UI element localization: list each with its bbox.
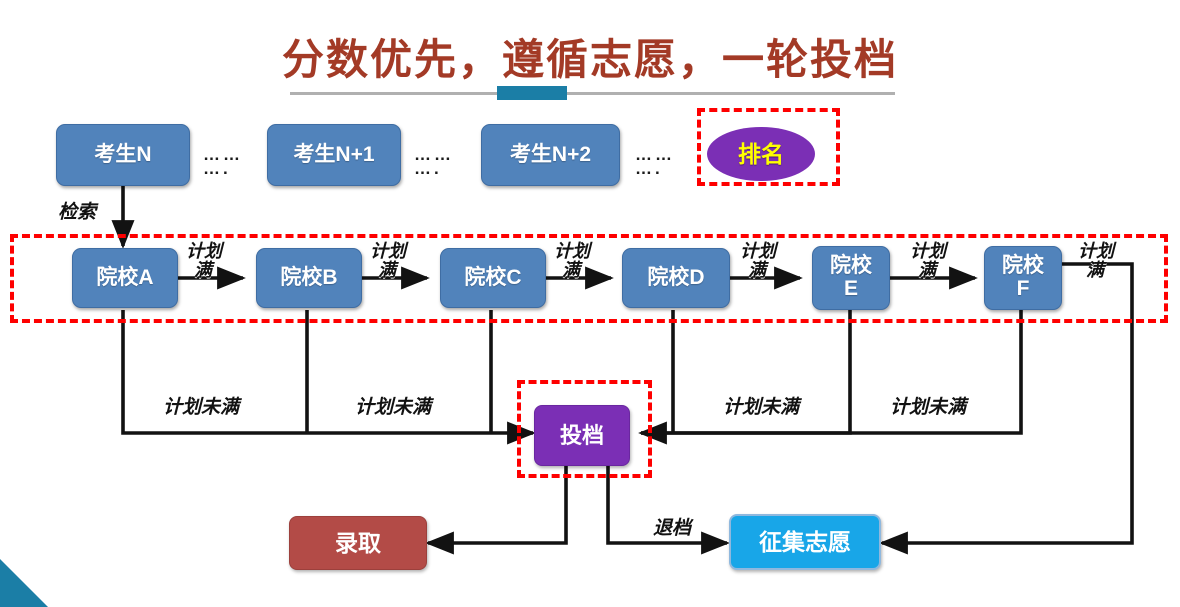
edge-label-plan-not-full-1: 计划未满 — [163, 392, 239, 419]
college-box-a[interactable]: 院校A — [72, 248, 178, 308]
plan-full-line2: 满 — [370, 261, 404, 280]
plan-full-line1: 计划 — [1078, 242, 1112, 261]
corner-triangle-decoration — [0, 559, 48, 607]
candidate-box-2[interactable]: 考生N+1 — [267, 124, 401, 186]
edge-label-plan-full-d-e: 计划 满 — [740, 242, 774, 280]
plan-full-line1: 计划 — [370, 242, 404, 261]
ellipsis-bottom: …. — [635, 162, 675, 176]
admitted-box[interactable]: 录取 — [289, 516, 427, 570]
plan-full-line2: 满 — [186, 261, 220, 280]
candidate-label: 考生N+2 — [510, 144, 591, 167]
edge-label-plan-full-f-out: 计划 满 — [1078, 242, 1112, 280]
second-round-box[interactable]: 征集志愿 — [729, 514, 881, 570]
plan-full-line1: 计划 — [554, 242, 588, 261]
edge-label-plan-full-a-b: 计划 满 — [186, 242, 220, 280]
ellipsis-group-3: …… …. — [635, 148, 675, 176]
edge-label-plan-full-e-f: 计划 满 — [910, 242, 944, 280]
plan-full-line2: 满 — [740, 261, 774, 280]
college-label-line2: E — [844, 278, 858, 301]
college-box-f[interactable]: 院校 F — [984, 246, 1062, 310]
dispatch-box[interactable]: 投档 — [534, 405, 630, 466]
edge-label-plan-full-c-d: 计划 满 — [554, 242, 588, 280]
edge-label-plan-not-full-3: 计划未满 — [723, 392, 799, 419]
college-label-line1: 院校 — [1002, 255, 1044, 278]
college-label: 院校A — [96, 267, 153, 290]
plan-full-line2: 满 — [910, 261, 944, 280]
plan-full-line2: 满 — [554, 261, 588, 280]
plan-full-line1: 计划 — [186, 242, 220, 261]
candidate-label: 考生N+1 — [293, 144, 374, 167]
ellipsis-bottom: …. — [414, 162, 454, 176]
edge-label-retrieve: 检索 — [58, 197, 96, 224]
college-label-line1: 院校 — [830, 255, 872, 278]
edge-label-plan-full-b-c: 计划 满 — [370, 242, 404, 280]
plan-full-line1: 计划 — [910, 242, 944, 261]
college-label: 院校D — [647, 267, 704, 290]
college-box-c[interactable]: 院校C — [440, 248, 546, 308]
college-label-line2: F — [1017, 278, 1030, 301]
candidate-box-1[interactable]: 考生N — [56, 124, 190, 186]
candidate-label: 考生N — [94, 144, 151, 167]
ranking-ellipse[interactable]: 排名 — [707, 127, 815, 181]
ellipsis-bottom: …. — [203, 162, 243, 176]
admitted-label: 录取 — [335, 531, 381, 556]
edge-label-returned: 退档 — [653, 513, 691, 540]
dispatch-label: 投档 — [560, 424, 604, 448]
slide-canvas: 分数优先，遵循志愿，一轮投档 — [0, 0, 1180, 607]
college-box-d[interactable]: 院校D — [622, 248, 730, 308]
college-box-e[interactable]: 院校 E — [812, 246, 890, 310]
ranking-label: 排名 — [738, 142, 784, 167]
edge-label-plan-not-full-2: 计划未满 — [355, 392, 431, 419]
ellipsis-group-2: …… …. — [414, 148, 454, 176]
edge-label-plan-not-full-4: 计划未满 — [890, 392, 966, 419]
college-label: 院校B — [280, 267, 337, 290]
candidate-box-3[interactable]: 考生N+2 — [481, 124, 620, 186]
plan-full-line2: 满 — [1078, 261, 1112, 280]
college-box-b[interactable]: 院校B — [256, 248, 362, 308]
second-round-label: 征集志愿 — [759, 530, 851, 555]
college-label: 院校C — [464, 267, 521, 290]
ellipsis-group-1: …… …. — [203, 148, 243, 176]
plan-full-line1: 计划 — [740, 242, 774, 261]
